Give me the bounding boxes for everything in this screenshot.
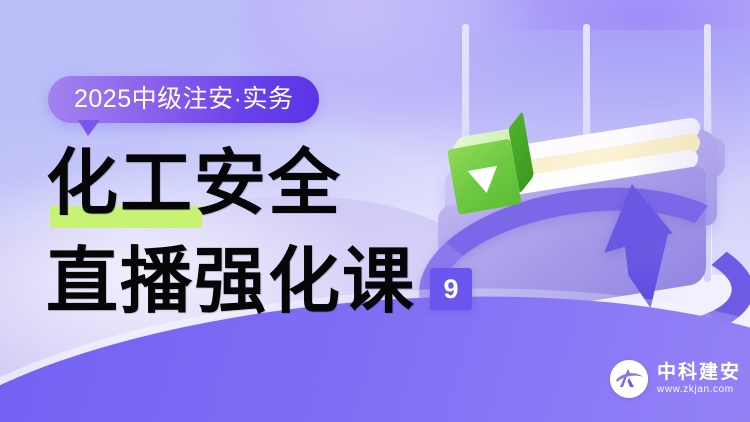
episode-number-text: 9 bbox=[444, 276, 459, 303]
title-line-1-text: 化工安全 bbox=[46, 144, 342, 224]
course-promo-banner: 2025中级注安·实务 化工安全 直播强化课 9 中科建安 ww bbox=[0, 0, 750, 422]
page-title: 化工安全 直播强化课 9 bbox=[46, 148, 472, 318]
mountain-swoosh-logo-icon bbox=[610, 360, 648, 398]
brand-logo-text: 中科建安 www.zkjan.com bbox=[657, 363, 741, 395]
course-badge-label: 2025中级注安·实务 bbox=[74, 87, 293, 112]
title-line-2-text: 直播强化课 bbox=[46, 246, 416, 318]
brand-logo[interactable]: 中科建安 www.zkjan.com bbox=[610, 360, 741, 398]
course-badge: 2025中级注安·实务 bbox=[48, 76, 319, 123]
brand-name: 中科建安 bbox=[657, 363, 741, 382]
course-badge-pill: 2025中级注安·实务 bbox=[48, 76, 319, 123]
play-triangle-icon bbox=[468, 166, 502, 196]
title-line-1: 化工安全 bbox=[46, 148, 472, 220]
course-badge-tail bbox=[78, 120, 100, 136]
episode-number-badge: 9 bbox=[430, 268, 472, 310]
title-line-2: 直播强化课 9 bbox=[46, 246, 472, 318]
brand-website: www.zkjan.com bbox=[657, 385, 741, 395]
